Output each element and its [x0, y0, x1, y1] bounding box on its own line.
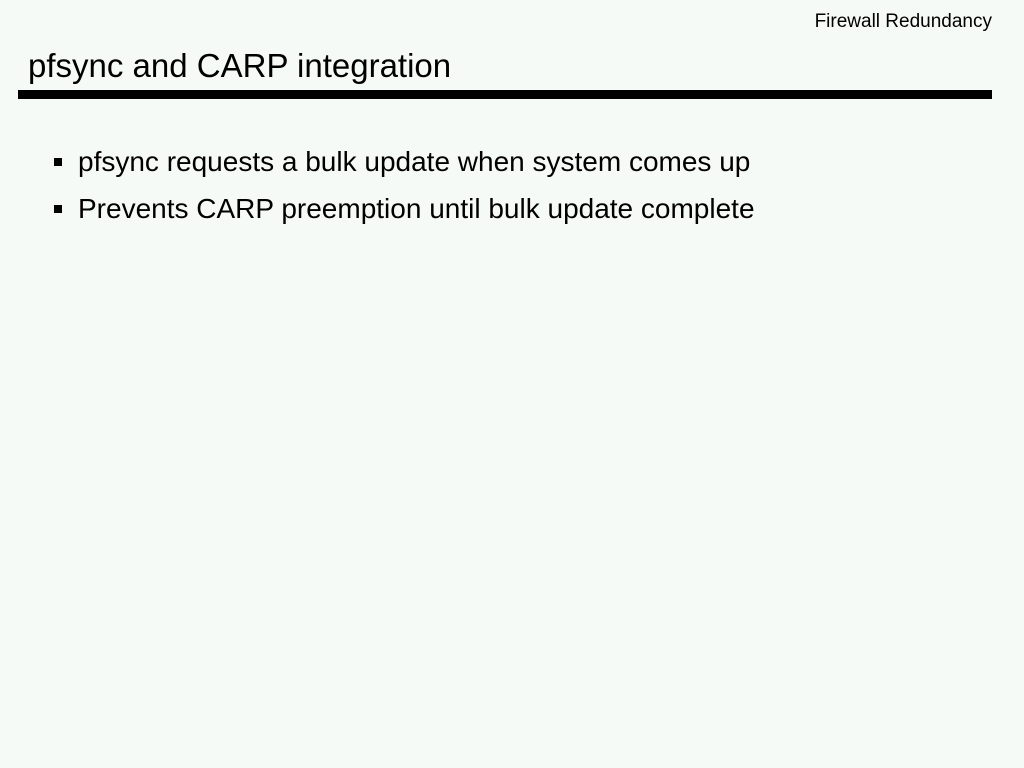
title-divider-rule	[18, 90, 992, 99]
presentation-slide: Firewall Redundancy pfsync and CARP inte…	[0, 0, 1024, 768]
list-item: Prevents CARP preemption until bulk upda…	[54, 185, 994, 232]
bullet-list: pfsync requests a bulk update when syste…	[54, 138, 994, 232]
running-header: Firewall Redundancy	[815, 11, 992, 33]
list-item-label: pfsync requests a bulk update when syste…	[78, 138, 750, 185]
list-item: pfsync requests a bulk update when syste…	[54, 138, 994, 185]
list-item-label: Prevents CARP preemption until bulk upda…	[78, 185, 755, 232]
square-bullet-icon	[54, 158, 62, 166]
square-bullet-icon	[54, 205, 62, 213]
slide-title: pfsync and CARP integration	[28, 46, 451, 86]
